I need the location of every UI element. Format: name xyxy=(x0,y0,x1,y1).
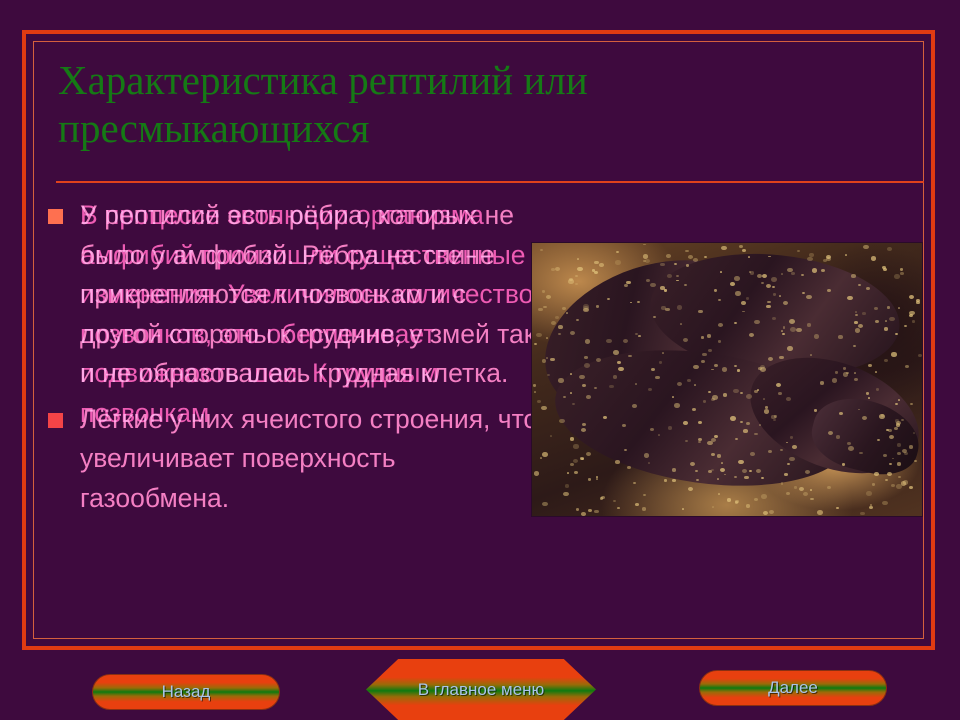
snake-scale-speckle xyxy=(701,336,704,338)
snake-scale-speckle xyxy=(540,249,542,251)
snake-scale-speckle xyxy=(616,251,619,253)
snake-scale-speckle xyxy=(746,394,752,399)
snake-scale-speckle xyxy=(766,284,771,288)
snake-scale-speckle xyxy=(643,494,646,497)
snake-scale-speckle xyxy=(894,274,900,279)
snake-scale-speckle xyxy=(855,328,861,332)
snake-scale-speckle xyxy=(735,438,738,441)
snake-scale-speckle xyxy=(698,421,702,424)
snake-scale-speckle xyxy=(794,486,797,488)
snake-scale-speckle xyxy=(665,308,669,311)
snake-scale-speckle xyxy=(575,283,578,286)
snake-scale-speckle xyxy=(749,333,754,337)
snake-scale-speckle xyxy=(814,334,819,338)
snake-scale-speckle xyxy=(761,494,767,499)
snake-scale-speckle xyxy=(746,504,751,508)
bullet-square-icon xyxy=(48,209,63,224)
snake-scale-speckle xyxy=(909,445,913,449)
snake-scale-speckle xyxy=(624,284,628,287)
snake-scale-speckle xyxy=(617,507,619,509)
snake-scale-speckle xyxy=(806,295,811,299)
snake-scale-speckle xyxy=(909,311,914,315)
snake-scale-speckle xyxy=(677,305,682,309)
snake-scale-speckle xyxy=(744,476,749,480)
snake-scale-speckle xyxy=(660,286,664,290)
list-item: Лёгкие у них ячеистого строения, что уве… xyxy=(44,400,544,519)
snake-scale-speckle xyxy=(683,338,688,342)
snake-scale-speckle xyxy=(541,406,547,411)
snake-scale-speckle xyxy=(782,333,784,335)
snake-scale-speckle xyxy=(909,486,913,489)
snake-scale-speckle xyxy=(543,306,547,309)
snake-scale-speckle xyxy=(584,356,587,359)
snake-scale-speckle xyxy=(797,250,800,253)
snake-scale-speckle xyxy=(573,459,578,463)
snake-scale-speckle xyxy=(674,403,680,408)
snake-scale-speckle xyxy=(735,500,738,503)
snake-scale-speckle xyxy=(707,334,712,338)
snake-scale-speckle xyxy=(754,498,758,501)
snake-scale-speckle xyxy=(887,306,890,308)
snake-scale-speckle xyxy=(698,310,702,313)
presentation-slide: Характеристика рептилий или пресмыкающих… xyxy=(0,0,960,720)
snake-photo: Змея на песчаном грунте xyxy=(532,243,922,516)
main-menu-button-label: В главное меню xyxy=(418,680,545,700)
snake-scale-speckle xyxy=(555,267,560,271)
snake-scale-speckle xyxy=(542,290,545,292)
snake-scale-speckle xyxy=(567,472,569,474)
snake-scale-speckle xyxy=(897,462,902,466)
list-item: У рептилий есть рёбра, которых не было у… xyxy=(44,196,544,394)
snake-scale-speckle xyxy=(632,404,637,408)
snake-scale-speckle xyxy=(735,291,741,295)
snake-scale-speckle xyxy=(860,512,865,516)
snake-scale-speckle xyxy=(570,463,574,466)
snake-scale-speckle xyxy=(585,339,590,343)
snake-scale-speckle xyxy=(727,498,731,501)
snake-scale-speckle xyxy=(875,371,877,373)
snake-scale-speckle xyxy=(909,295,914,299)
snake-scale-speckle xyxy=(904,452,908,455)
snake-scale-speckle xyxy=(910,403,913,406)
snake-scale-speckle xyxy=(568,279,573,283)
snake-scale-speckle xyxy=(885,320,888,322)
snake-scale-speckle xyxy=(772,286,775,288)
snake-scale-speckle xyxy=(743,429,747,433)
snake-scale-speckle xyxy=(771,277,777,282)
snake-scale-speckle xyxy=(887,472,892,476)
snake-scale-speckle xyxy=(757,389,759,391)
snake-scale-speckle xyxy=(810,498,814,501)
body-text-stack: В процессе эволюции организма амфибий пр… xyxy=(44,196,544,626)
snake-scale-speckle xyxy=(615,260,621,265)
snake-scale-speckle xyxy=(803,492,808,496)
snake-scale-speckle xyxy=(836,435,841,439)
snake-scale-speckle xyxy=(791,272,794,275)
snake-scale-speckle xyxy=(695,470,697,472)
snake-scale-speckle xyxy=(854,372,856,374)
snake-scale-speckle xyxy=(711,469,714,471)
snake-scale-speckle xyxy=(555,316,559,319)
snake-scale-speckle xyxy=(650,428,654,431)
snake-scale-speckle xyxy=(741,301,746,305)
snake-scale-speckle xyxy=(784,473,787,476)
snake-scale-speckle xyxy=(763,511,768,515)
snake-scale-speckle xyxy=(677,382,682,386)
snake-scale-speckle xyxy=(594,261,599,265)
snake-scale-speckle xyxy=(646,279,650,282)
snake-scale-speckle xyxy=(778,392,782,395)
snake-scale-speckle xyxy=(723,393,727,397)
snake-scale-speckle xyxy=(872,483,876,486)
snake-scale-speckle xyxy=(627,466,631,469)
snake-scale-speckle xyxy=(534,391,536,393)
snake-scale-speckle xyxy=(750,452,755,456)
snake-scale-speckle xyxy=(540,457,542,459)
snake-scale-speckle xyxy=(542,502,547,506)
snake-scale-speckle xyxy=(708,349,712,352)
snake-scale-speckle xyxy=(642,507,646,511)
snake-scale-speckle xyxy=(623,339,628,343)
snake-scale-speckle xyxy=(807,257,812,261)
snake-scale-speckle xyxy=(814,409,817,411)
snake-scale-speckle xyxy=(904,325,907,328)
snake-scale-speckle xyxy=(768,357,773,361)
snake-scale-speckle xyxy=(613,500,616,502)
snake-scale-speckle xyxy=(884,359,888,362)
snake-scale-speckle xyxy=(718,493,721,495)
snake-scale-speckle xyxy=(588,509,592,512)
snake-scale-speckle xyxy=(734,276,740,281)
snake-scale-speckle xyxy=(558,325,563,329)
snake-scale-speckle xyxy=(533,384,536,387)
snake-scale-speckle xyxy=(594,510,598,513)
snake-scale-speckle xyxy=(863,245,869,249)
next-button-label: Далее xyxy=(768,678,818,698)
snake-scale-speckle xyxy=(635,333,638,335)
snake-scale-speckle xyxy=(609,385,614,389)
snake-scale-speckle xyxy=(760,365,765,369)
snake-scale-speckle xyxy=(693,365,699,370)
snake-scale-speckle xyxy=(712,506,714,508)
snake-scale-speckle xyxy=(737,369,740,371)
snake-scale-speckle xyxy=(838,335,842,339)
snake-scale-speckle xyxy=(601,496,605,499)
snake-scale-speckle xyxy=(596,305,599,307)
snake-scale-speckle xyxy=(628,355,631,358)
snake-scale-speckle xyxy=(874,472,879,476)
snake-scale-speckle xyxy=(682,508,684,510)
snake-scale-speckle xyxy=(617,361,621,364)
snake-scale-speckle xyxy=(730,416,736,421)
snake-scale-speckle xyxy=(885,479,888,482)
snake-scale-speckle xyxy=(742,249,746,252)
snake-scale-speckle xyxy=(542,452,548,457)
snake-scale-speckle xyxy=(759,424,761,426)
snake-scale-speckle xyxy=(563,492,569,497)
snake-scale-speckle xyxy=(575,275,578,278)
snake-scale-speckle xyxy=(538,308,543,312)
snake-scale-speckle xyxy=(658,434,660,436)
snake-scale-speckle xyxy=(799,487,804,491)
bullet-square-icon xyxy=(48,413,63,428)
snake-scale-speckle xyxy=(858,284,861,286)
snake-scale-speckle xyxy=(565,484,569,487)
snake-scale-speckle xyxy=(536,333,542,338)
snake-scale-speckle xyxy=(764,409,769,413)
title-divider xyxy=(56,181,924,183)
snake-scale-speckle xyxy=(882,501,887,505)
snake-scale-speckle xyxy=(769,510,774,514)
snake-scale-speckle xyxy=(714,364,718,367)
snake-scale-speckle xyxy=(866,491,872,496)
snake-scale-speckle xyxy=(645,259,650,263)
snake-scale-speckle xyxy=(687,379,691,382)
page-title: Характеристика рептилий или пресмыкающих… xyxy=(58,56,888,153)
snake-scale-speckle xyxy=(708,391,711,394)
snake-scale-speckle xyxy=(576,508,580,511)
snake-scale-speckle xyxy=(835,371,838,374)
snake-scale-speckle xyxy=(692,408,696,411)
back-button[interactable]: Назад xyxy=(92,674,280,710)
snake-scale-speckle xyxy=(542,359,546,362)
snake-scale-speckle xyxy=(900,272,903,275)
snake-scale-speckle xyxy=(655,376,660,380)
snake-scale-speckle xyxy=(868,397,870,399)
snake-scale-speckle xyxy=(786,492,790,495)
snake-scale-speckle xyxy=(884,327,889,331)
snake-scale-speckle xyxy=(847,296,852,300)
snake-scale-speckle xyxy=(667,274,672,278)
main-menu-button[interactable]: В главное меню xyxy=(366,659,596,720)
snake-scale-speckle xyxy=(810,489,812,491)
snake-scale-speckle xyxy=(596,478,599,480)
snake-scale-speckle xyxy=(749,271,751,273)
snake-scale-speckle xyxy=(573,444,578,448)
snake-scale-speckle xyxy=(599,263,604,267)
snake-scale-speckle xyxy=(914,460,917,462)
snake-scale-speckle xyxy=(805,470,810,474)
snake-scale-speckle xyxy=(570,373,573,375)
snake-scale-speckle xyxy=(615,460,619,464)
snake-scale-speckle xyxy=(789,319,795,324)
snake-scale-speckle xyxy=(718,340,721,343)
snake-scale-speckle xyxy=(685,440,688,442)
snake-scale-speckle xyxy=(827,289,831,292)
snake-scale-speckle xyxy=(781,330,783,332)
snake-scale-speckle xyxy=(613,350,619,355)
snake-scale-speckle xyxy=(820,381,824,384)
snake-scale-speckle xyxy=(704,256,707,258)
snake-scale-speckle xyxy=(916,299,920,302)
snake-scale-speckle xyxy=(809,253,813,257)
snake-scale-speckle xyxy=(644,453,649,457)
snake-scale-speckle xyxy=(871,256,877,261)
snake-scale-speckle xyxy=(869,506,873,509)
snake-scale-speckle xyxy=(781,482,784,484)
snake-scale-speckle xyxy=(826,257,831,261)
snake-scale-speckle xyxy=(558,378,564,382)
snake-scale-speckle xyxy=(761,477,764,479)
snake-scale-speckle xyxy=(581,512,586,516)
snake-scale-speckle xyxy=(550,435,552,437)
snake-scale-speckle xyxy=(883,454,887,457)
snake-scale-speckle xyxy=(843,367,846,369)
snake-scale-speckle xyxy=(613,375,617,379)
snake-scale-speckle xyxy=(858,409,860,411)
snake-scale-speckle xyxy=(836,507,838,509)
snake-scale-speckle xyxy=(551,268,554,271)
snake-scale-speckle xyxy=(889,463,891,465)
snake-scale-speckle xyxy=(586,452,591,456)
snake-scale-speckle xyxy=(643,254,648,258)
body-text-layer-b: У рептилий есть рёбра, которых не было у… xyxy=(44,196,544,524)
snake-scale-speckle xyxy=(773,419,775,421)
snake-scale-speckle xyxy=(720,468,725,472)
snake-scale-speckle xyxy=(666,254,671,258)
snake-scale-speckle xyxy=(702,353,706,356)
snake-scale-speckle xyxy=(722,367,727,371)
snake-scale-speckle xyxy=(847,442,851,445)
snake-scale-speckle xyxy=(718,323,723,327)
snake-scale-speckle xyxy=(763,398,765,400)
snake-scale-speckle xyxy=(851,274,855,278)
snake-scale-speckle xyxy=(881,414,884,417)
snake-scale-speckle xyxy=(581,428,586,432)
snake-scale-speckle xyxy=(688,487,693,491)
snake-scale-speckle xyxy=(718,299,721,301)
snake-scale-speckle xyxy=(887,247,892,251)
snake-scale-speckle xyxy=(854,378,858,381)
snake-scale-speckle xyxy=(827,486,832,490)
snake-scale-speckle xyxy=(900,268,903,271)
snake-scale-speckle xyxy=(905,365,909,368)
next-button[interactable]: Далее xyxy=(699,670,887,706)
snake-scale-speckle xyxy=(661,306,665,309)
snake-scale-speckle xyxy=(848,446,854,451)
snake-scale-speckle xyxy=(583,306,589,311)
snake-scale-speckle xyxy=(577,267,582,271)
snake-scale-speckle xyxy=(562,307,567,311)
snake-scale-speckle xyxy=(754,320,759,324)
snake-scale-speckle xyxy=(664,479,667,481)
snake-scale-speckle xyxy=(651,368,655,371)
snake-scale-speckle xyxy=(558,333,561,335)
snake-scale-speckle xyxy=(537,400,541,403)
snake-scale-speckle xyxy=(739,245,743,248)
snake-scale-speckle xyxy=(894,427,898,430)
snake-scale-speckle xyxy=(854,321,858,324)
snake-scale-speckle xyxy=(622,424,626,427)
snake-scale-speckle xyxy=(638,335,640,337)
snake-scale-speckle xyxy=(807,323,811,327)
snake-scale-speckle xyxy=(534,471,539,475)
snake-scale-speckle xyxy=(891,484,895,487)
snake-scale-speckle xyxy=(672,479,675,482)
snake-scale-speckle xyxy=(534,343,537,345)
snake-scale-speckle xyxy=(574,471,578,474)
snake-scale-speckle xyxy=(812,268,817,272)
snake-scale-speckle xyxy=(635,503,639,506)
snake-scale-speckle xyxy=(912,320,915,322)
snake-scale-speckle xyxy=(868,364,872,367)
snake-scale-speckle xyxy=(779,295,781,297)
list-item-label: Лёгкие у них ячеистого строения, что уве… xyxy=(80,400,544,519)
snake-scale-speckle xyxy=(817,510,823,515)
snake-scale-speckle xyxy=(866,287,870,290)
snake-scale-speckle xyxy=(546,295,551,299)
snake-scale-speckle xyxy=(901,481,907,486)
snake-scale-speckle xyxy=(637,301,640,303)
snake-scale-speckle xyxy=(633,482,636,484)
snake-scale-speckle xyxy=(643,244,645,246)
snake-scale-speckle xyxy=(862,416,867,420)
snake-scale-speckle xyxy=(773,293,776,296)
snake-scale-speckle xyxy=(734,365,737,367)
back-button-label: Назад xyxy=(162,682,211,702)
snake-scale-speckle xyxy=(823,259,827,262)
snake-scale-speckle xyxy=(898,476,901,478)
snake-scale-speckle xyxy=(845,254,848,256)
snake-scale-speckle xyxy=(685,250,689,253)
snake-scale-speckle xyxy=(594,271,598,274)
snake-scale-speckle xyxy=(918,354,922,357)
snake-scale-speckle xyxy=(581,458,584,460)
snake-scale-speckle xyxy=(781,273,784,275)
snake-scale-speckle xyxy=(672,468,676,471)
snake-scale-speckle xyxy=(711,438,716,442)
snake-scale-speckle xyxy=(683,421,688,425)
snake-scale-speckle xyxy=(875,320,879,323)
snake-scale-speckle xyxy=(577,258,579,260)
list-item-label: У рептилий есть рёбра, которых не было у… xyxy=(80,196,544,394)
snake-scale-speckle xyxy=(898,307,900,309)
snake-scale-speckle xyxy=(588,478,591,480)
snake-scale-speckle xyxy=(783,326,786,328)
snake-scale-speckle xyxy=(688,255,693,259)
snake-scale-speckle xyxy=(738,460,743,464)
snake-scale-speckle xyxy=(891,352,896,356)
snake-scale-speckle xyxy=(774,415,777,418)
snake-scale-speckle xyxy=(570,437,574,440)
snake-scale-speckle xyxy=(712,395,718,400)
snake-scale-speckle xyxy=(779,356,783,359)
snake-scale-speckle xyxy=(717,454,721,457)
snake-scale-speckle xyxy=(721,246,727,250)
snake-scale-speckle xyxy=(714,289,717,291)
snake-scale-speckle xyxy=(693,258,698,262)
